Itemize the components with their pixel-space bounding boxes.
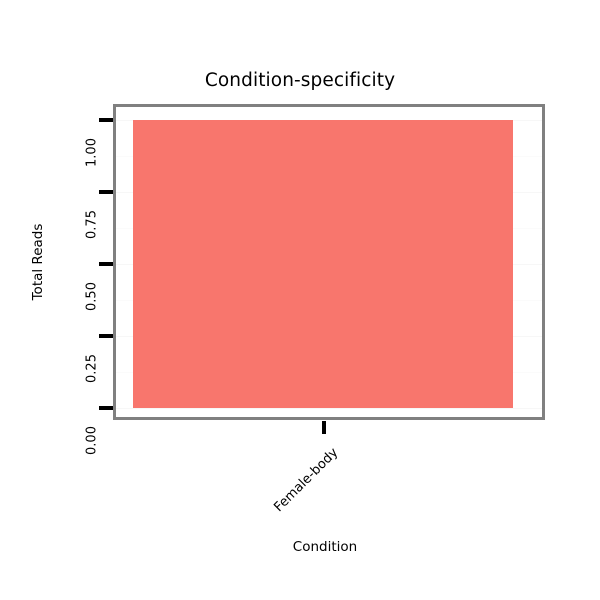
x-axis-title: Condition xyxy=(0,539,600,555)
y-tick-label-0.00: 0.00 xyxy=(85,409,100,473)
y-tick-mark-0.25 xyxy=(99,334,113,338)
x-tick-label-female-body: Female-body xyxy=(246,445,341,540)
gridline-major-0.00 xyxy=(116,408,542,409)
bar-female-body[interactable] xyxy=(133,120,513,408)
x-tick-mark-female-body xyxy=(322,421,326,434)
chart-title: Condition-specificity xyxy=(0,70,600,91)
plot-panel xyxy=(113,104,545,420)
y-tick-label-1.00: 1.00 xyxy=(85,121,100,185)
y-tick-mark-0.75 xyxy=(99,190,113,194)
plot-panel-inner xyxy=(116,107,542,417)
y-tick-label-0.25: 0.25 xyxy=(85,337,100,401)
y-axis-title: Total Reads xyxy=(30,224,46,301)
y-tick-label-0.75: 0.75 xyxy=(85,193,100,257)
chart-canvas: Condition-specificity Total Reads 1.00 0… xyxy=(0,0,600,600)
y-tick-mark-0.00 xyxy=(99,406,113,410)
y-tick-label-0.50: 0.50 xyxy=(85,265,100,329)
y-tick-mark-1.00 xyxy=(99,118,113,122)
y-tick-mark-0.50 xyxy=(99,262,113,266)
